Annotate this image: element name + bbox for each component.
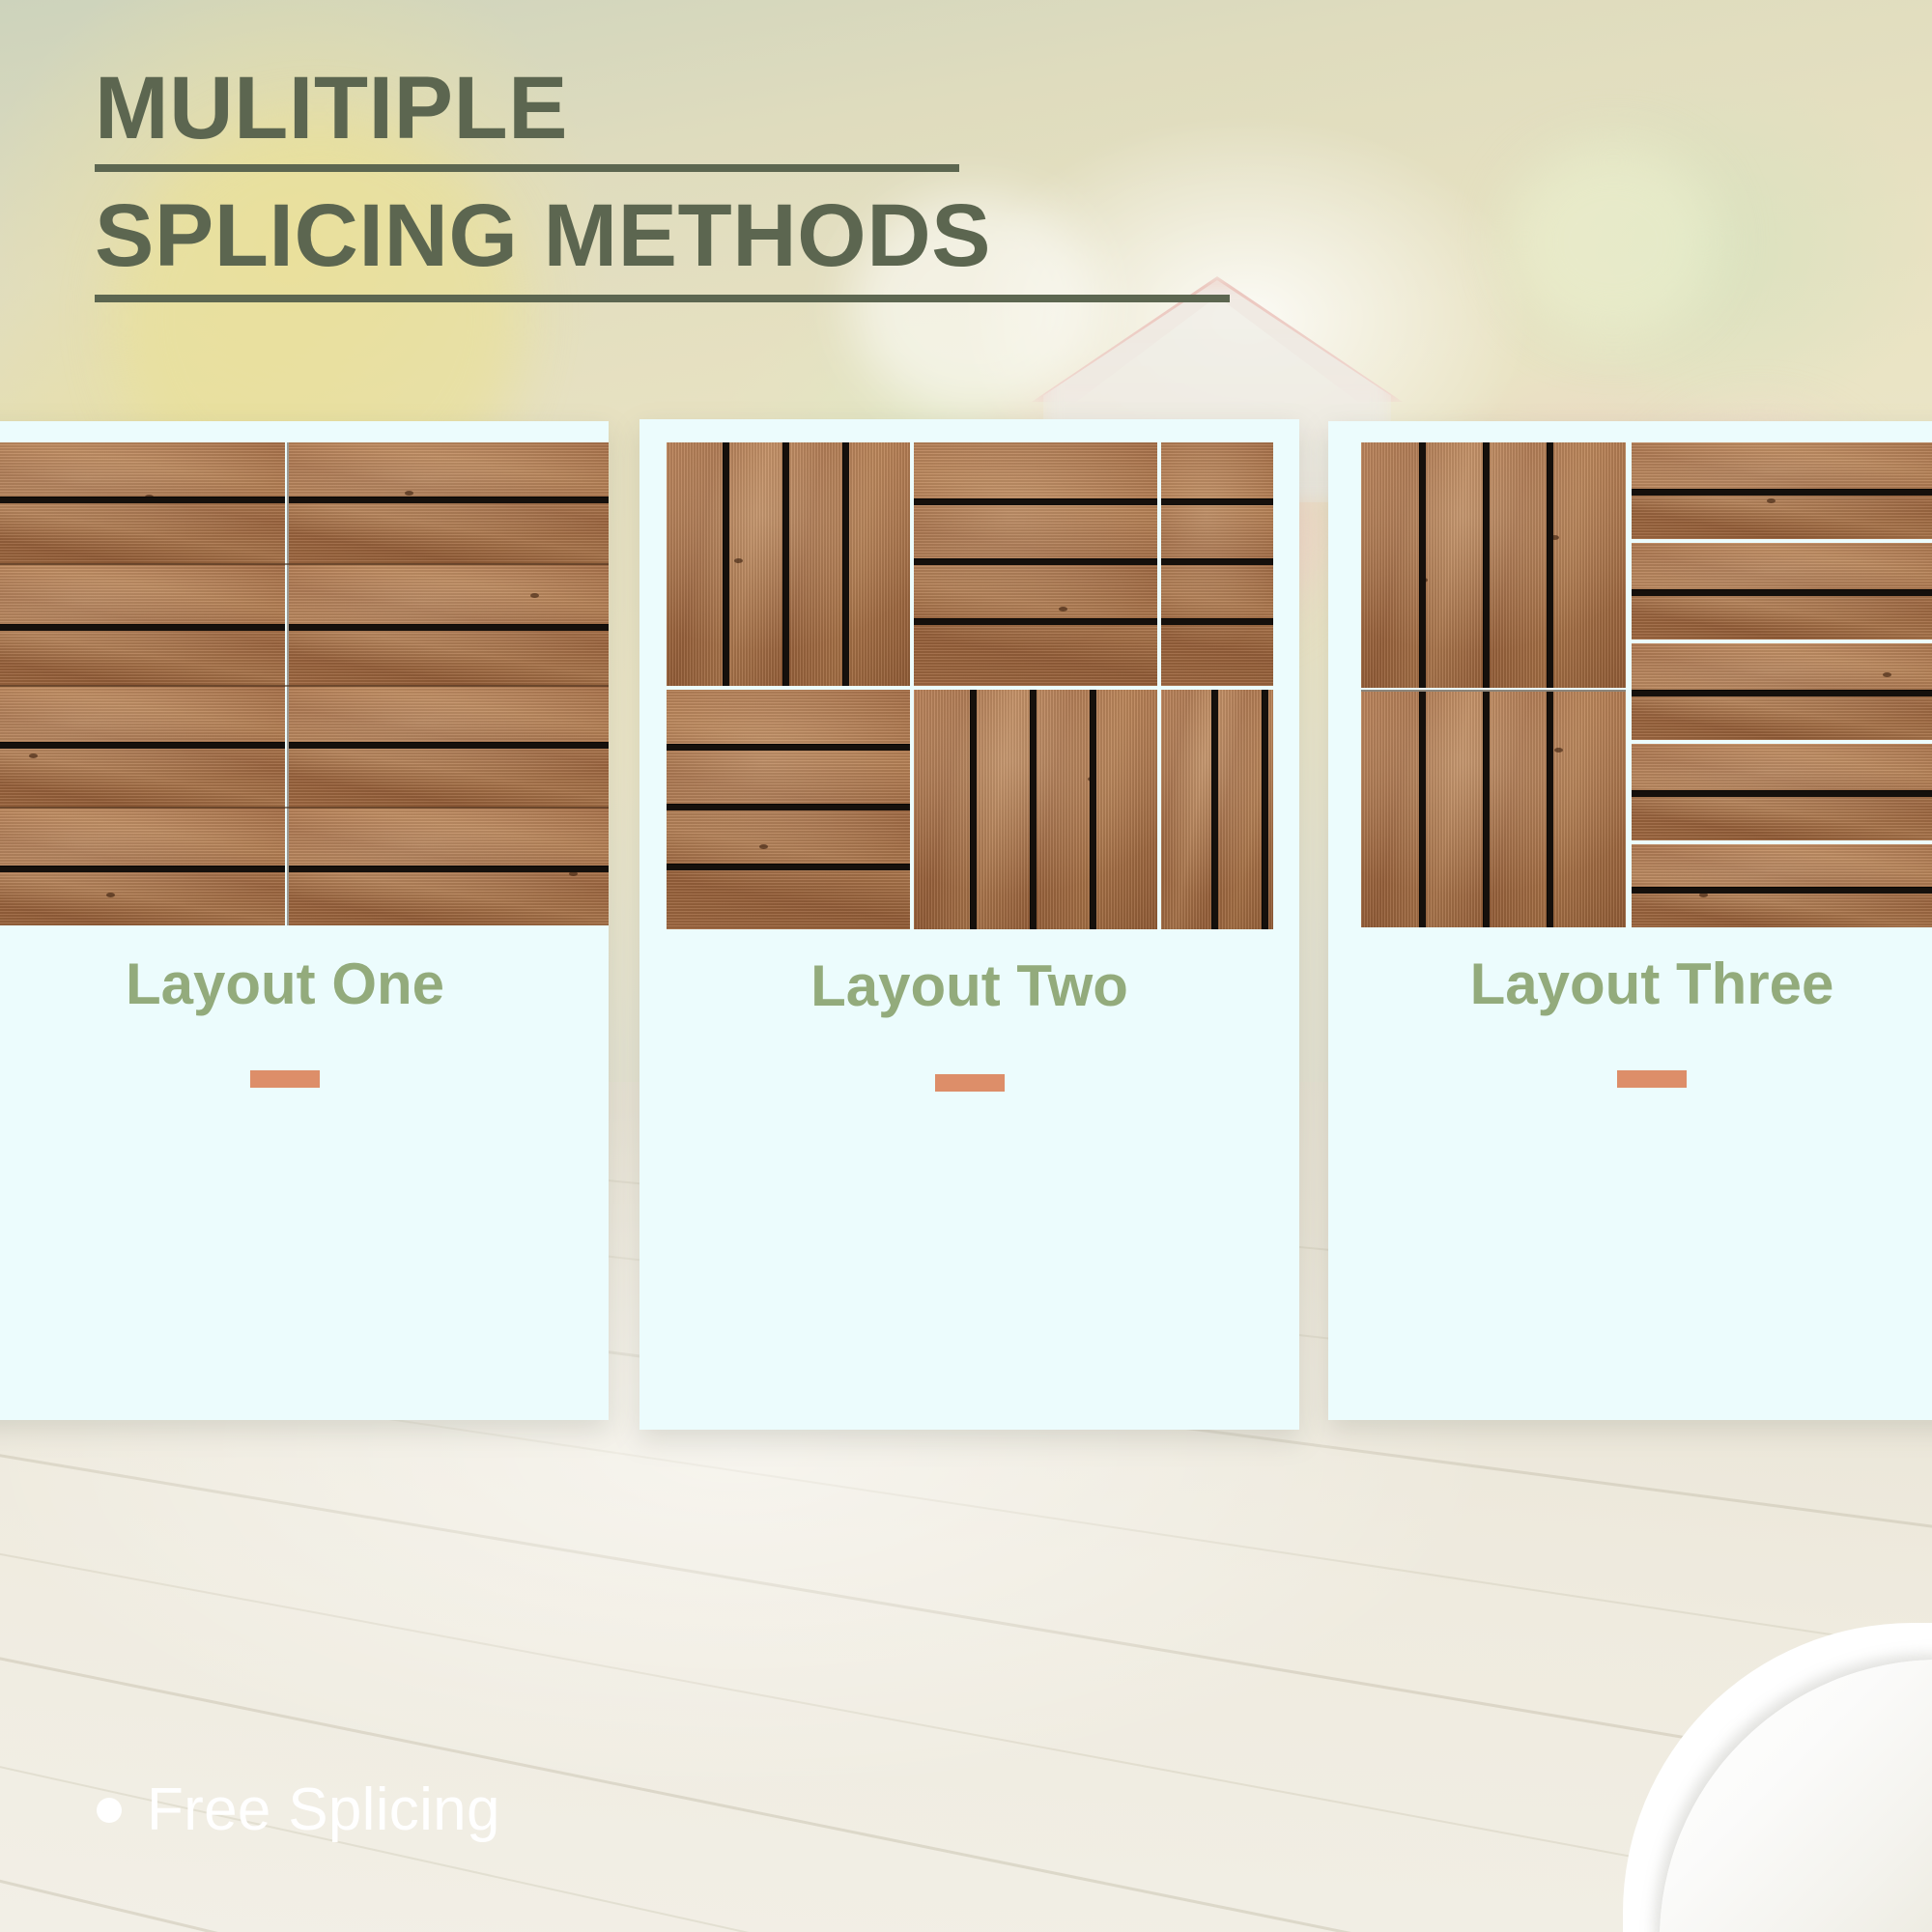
poster-canvas: MULITIPLE SPLICING METHODS <box>0 0 1932 1932</box>
layout-two-accent-dash <box>935 1074 1005 1092</box>
feature-label: Free Splicing <box>147 1776 500 1844</box>
layout-one-caption: Layout One <box>0 951 609 1017</box>
headline-rule-2 <box>95 295 1230 302</box>
layout-card-three[interactable]: Layout Three <box>1328 421 1932 1420</box>
feature-free-splicing: Free Splicing <box>97 1776 500 1844</box>
layout-two-caption: Layout Two <box>639 952 1299 1019</box>
page-curl-corner <box>1613 1613 1932 1932</box>
headline-line-1: MULITIPLE <box>95 66 1302 151</box>
layout-two-tile-preview <box>667 442 1273 929</box>
headline-block: MULITIPLE SPLICING METHODS <box>95 66 1302 302</box>
layout-three-accent-dash <box>1617 1070 1687 1088</box>
layout-card-two[interactable]: Layout Two <box>639 419 1299 1430</box>
layout-one-tile-preview <box>0 442 609 925</box>
layout-three-caption: Layout Three <box>1328 951 1932 1017</box>
layout-card-one[interactable]: Layout One <box>0 421 609 1420</box>
layout-one-accent-dash <box>250 1070 320 1088</box>
dot-bullet-icon <box>97 1798 122 1823</box>
headline-rule-1 <box>95 164 959 172</box>
headline-line-2: SPLICING METHODS <box>95 193 1302 278</box>
layout-three-tile-preview <box>1361 442 1932 927</box>
